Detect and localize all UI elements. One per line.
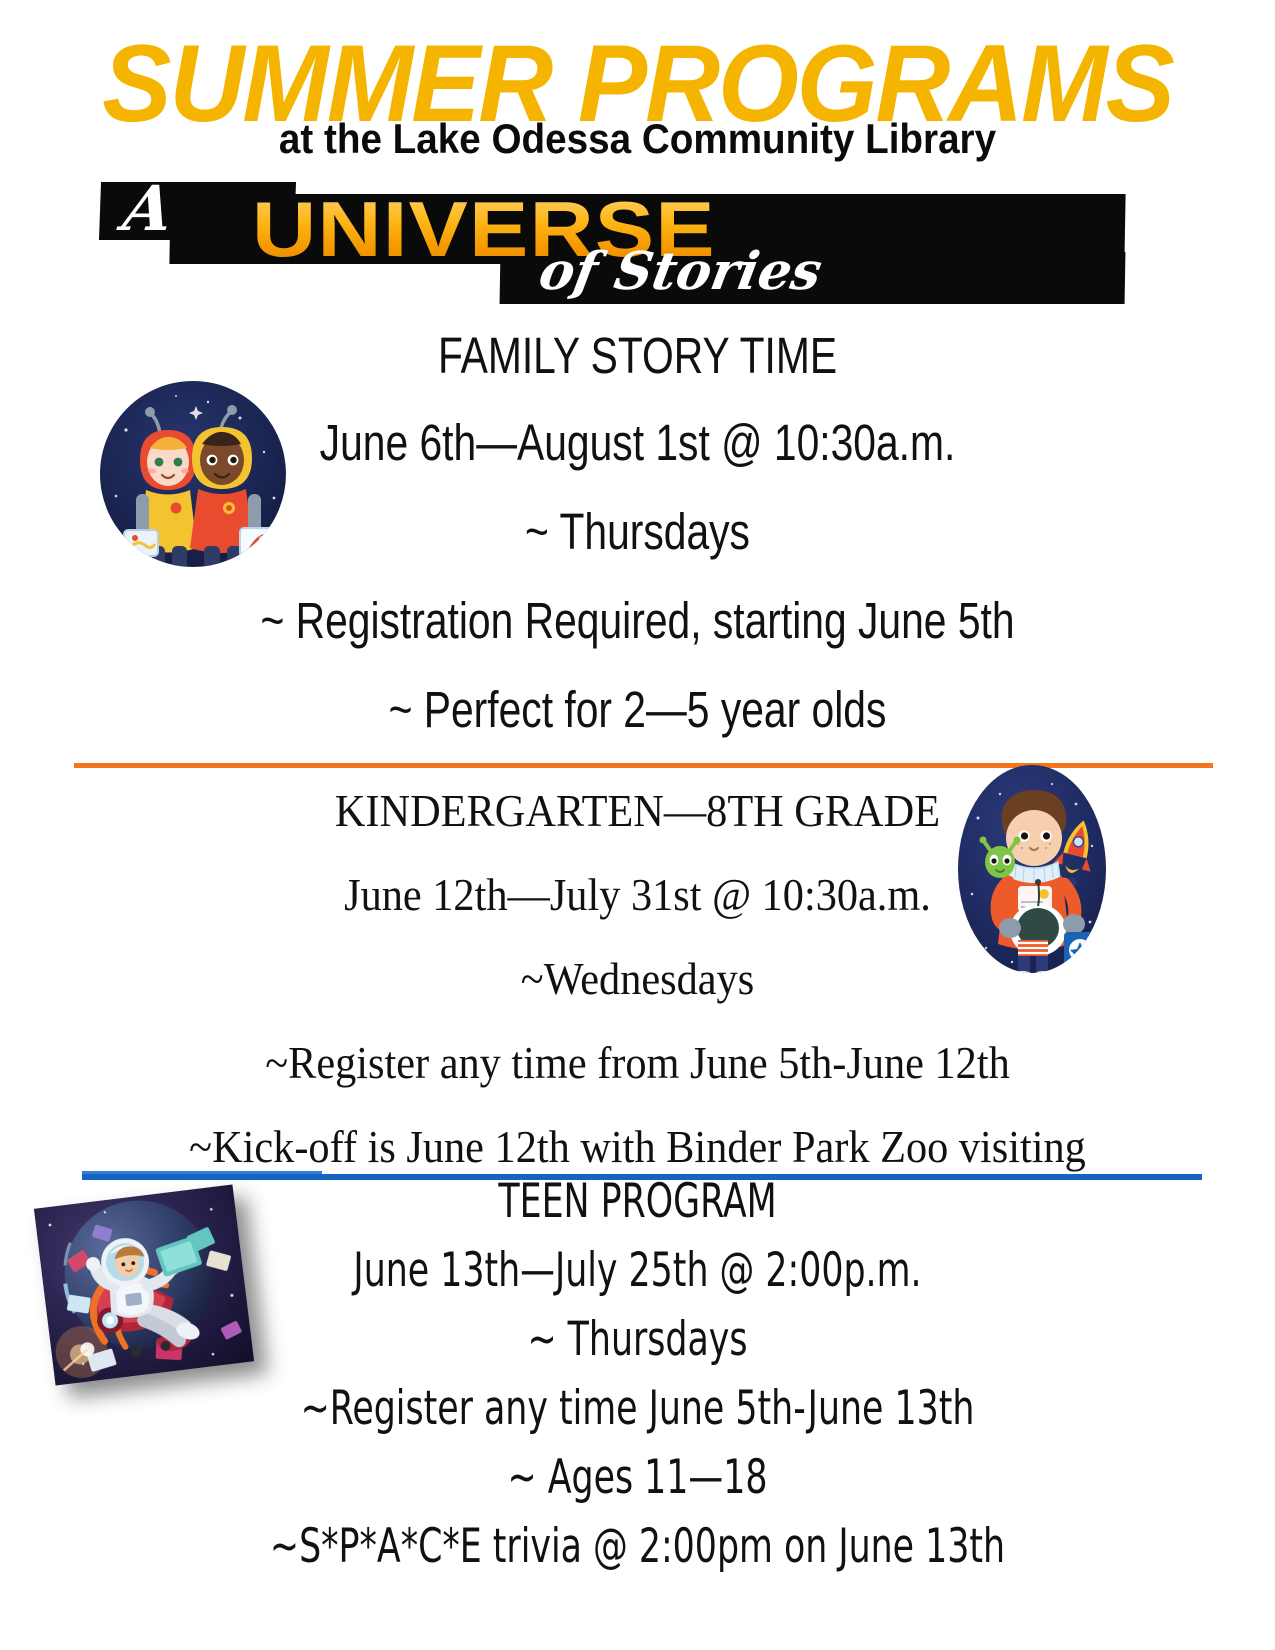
teen-line-ages: ~ Ages 11—18 (166, 1454, 1110, 1501)
section-teen-program: TEEN PROGRAM June 13th—July 25th @ 2:00p… (0, 1178, 1275, 1570)
section-kindergarten: KINDERGARTEN—8TH GRADE June 12th—July 31… (0, 788, 1275, 1170)
logo-word-of-stories: of Stories (535, 246, 825, 298)
kindergarten-line-kickoff: ~Kick-off is June 12th with Binder Park … (51, 1124, 1224, 1170)
family-line-registration: ~ Registration Required, starting June 5… (128, 595, 1148, 646)
family-heading: FAMILY STORY TIME (128, 330, 1148, 381)
universe-of-stories-logo: A UNIVERSE of Stories (100, 172, 1110, 307)
family-line-ages: ~ Perfect for 2—5 year olds (128, 684, 1148, 735)
kindergarten-line-dates: June 12th—July 31st @ 10:30a.m. (51, 872, 1224, 918)
family-line-dates: June 6th—August 1st @ 10:30a.m. (128, 417, 1148, 468)
teen-line-registration: ~Register any time June 5th-June 13th (166, 1385, 1110, 1432)
flyer-page: SUMMER PROGRAMS at the Lake Odessa Commu… (0, 0, 1275, 1650)
page-subtitle: at the Lake Odessa Community Library (51, 118, 1224, 160)
kindergarten-line-registration: ~Register any time from June 5th-June 12… (51, 1040, 1224, 1086)
kindergarten-heading: KINDERGARTEN—8TH GRADE (51, 788, 1224, 834)
kindergarten-line-day: ~Wednesdays (51, 956, 1224, 1002)
section-family-story-time: FAMILY STORY TIME June 6th—August 1st @ … (0, 330, 1275, 735)
teen-line-day: ~ Thursdays (166, 1316, 1110, 1363)
teen-heading: TEEN PROGRAM (166, 1178, 1110, 1225)
family-line-day: ~ Thursdays (128, 506, 1148, 557)
teen-line-dates: June 13th—July 25th @ 2:00p.m. (166, 1247, 1110, 1294)
teen-line-trivia: ~S*P*A*C*E trivia @ 2:00pm on June 13th (166, 1523, 1110, 1570)
logo-letter-a: A (120, 178, 177, 240)
